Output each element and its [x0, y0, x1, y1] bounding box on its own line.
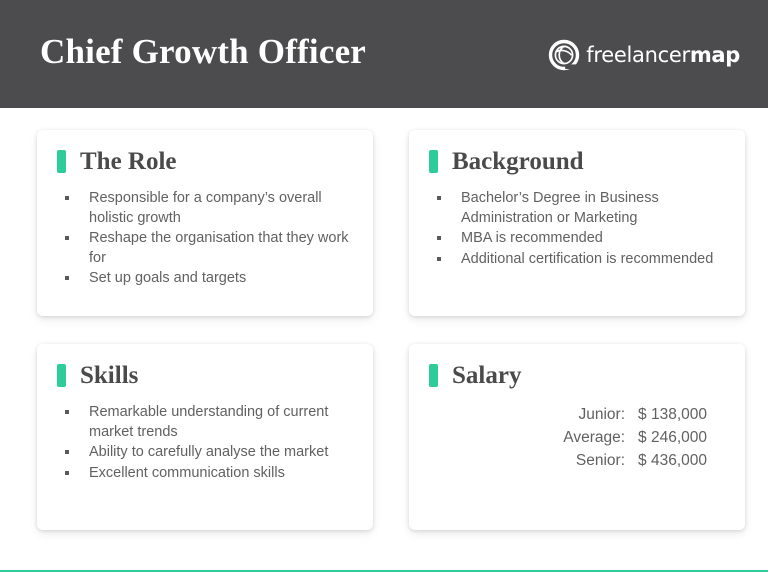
accent-bar-icon: [429, 150, 438, 173]
card-header: Background: [429, 148, 725, 175]
list-item-label: Additional certification is recommended: [461, 251, 713, 267]
header-bar: Chief Growth Officer freelancermap: [0, 0, 768, 108]
card-background: Background Bachelor’s Degree in Business…: [409, 130, 745, 316]
list-item: Remarkable understanding of current mark…: [62, 403, 353, 442]
salary-table: Junior: $ 138,000 Average: $ 246,000 Sen…: [429, 403, 707, 472]
table-row: Average: $ 246,000: [563, 426, 707, 449]
list-item: Excellent communication skills: [62, 464, 353, 484]
list-item-label: MBA is recommended: [461, 230, 603, 246]
salary-amount-value: $ 436,000: [638, 449, 707, 472]
table-row: Junior: $ 138,000: [563, 403, 707, 426]
bullet-square-icon: [437, 236, 441, 240]
card-header: Skills: [57, 362, 353, 389]
table-row: Senior: $ 436,000: [563, 449, 707, 472]
list-item: Responsible for a company’s overall holi…: [62, 189, 353, 228]
list-item: Set up goals and targets: [62, 269, 353, 289]
freelancermap-logo[interactable]: freelancermap: [548, 36, 740, 74]
logo-word-map: map: [690, 43, 740, 67]
bullet-square-icon: [65, 236, 69, 240]
page-title: Chief Growth Officer: [40, 30, 366, 74]
list-item: Additional certification is recommended: [434, 250, 725, 270]
bullet-square-icon: [437, 257, 441, 261]
accent-bar-icon: [57, 364, 66, 387]
list-item-label: Excellent communication skills: [89, 465, 285, 481]
card-header: Salary: [429, 362, 725, 389]
list-item: Reshape the organisation that they work …: [62, 229, 353, 268]
card-title: Background: [452, 148, 584, 175]
logo-wordmark: freelancermap: [586, 44, 740, 67]
accent-bar-icon: [57, 150, 66, 173]
logo-word-freelancer: freelancer: [586, 43, 690, 67]
bullet-list: Bachelor’s Degree in Business Administra…: [429, 189, 725, 269]
list-item: Ability to carefully analyse the market: [62, 443, 353, 463]
card-header: The Role: [57, 148, 353, 175]
card-title: The Role: [80, 148, 177, 175]
salary-amount-value: $ 138,000: [638, 403, 707, 426]
bullet-list: Remarkable understanding of current mark…: [57, 403, 353, 483]
bullet-square-icon: [437, 196, 441, 200]
salary-level-label: Junior:: [563, 403, 638, 426]
list-item: Bachelor’s Degree in Business Administra…: [434, 189, 725, 228]
bottom-accent-rule: [0, 570, 768, 572]
bullet-square-icon: [65, 410, 69, 414]
card-salary: Salary Junior: $ 138,000 Average: $ 246,…: [409, 344, 745, 530]
salary-level-label: Average:: [563, 426, 638, 449]
card-the-role: The Role Responsible for a company’s ove…: [37, 130, 373, 316]
card-title: Salary: [452, 362, 521, 389]
bullet-square-icon: [65, 471, 69, 475]
bullet-square-icon: [65, 196, 69, 200]
bullet-square-icon: [65, 276, 69, 280]
card-skills: Skills Remarkable understanding of curre…: [37, 344, 373, 530]
list-item-label: Reshape the organisation that they work …: [89, 230, 349, 266]
salary-level-label: Senior:: [563, 449, 638, 472]
bullet-list: Responsible for a company’s overall holi…: [57, 189, 353, 289]
freelancermap-globe-icon: [548, 39, 580, 71]
salary-amount-value: $ 246,000: [638, 426, 707, 449]
list-item-label: Remarkable understanding of current mark…: [89, 404, 328, 440]
card-grid: The Role Responsible for a company’s ove…: [37, 130, 745, 530]
card-title: Skills: [80, 362, 138, 389]
list-item-label: Set up goals and targets: [89, 270, 246, 286]
list-item-label: Ability to carefully analyse the market: [89, 444, 328, 460]
bullet-square-icon: [65, 450, 69, 454]
list-item: MBA is recommended: [434, 229, 725, 249]
infographic-page: Chief Growth Officer freelancermap The R…: [0, 0, 768, 576]
list-item-label: Bachelor’s Degree in Business Administra…: [461, 190, 659, 226]
list-item-label: Responsible for a company’s overall holi…: [89, 190, 322, 226]
accent-bar-icon: [429, 364, 438, 387]
